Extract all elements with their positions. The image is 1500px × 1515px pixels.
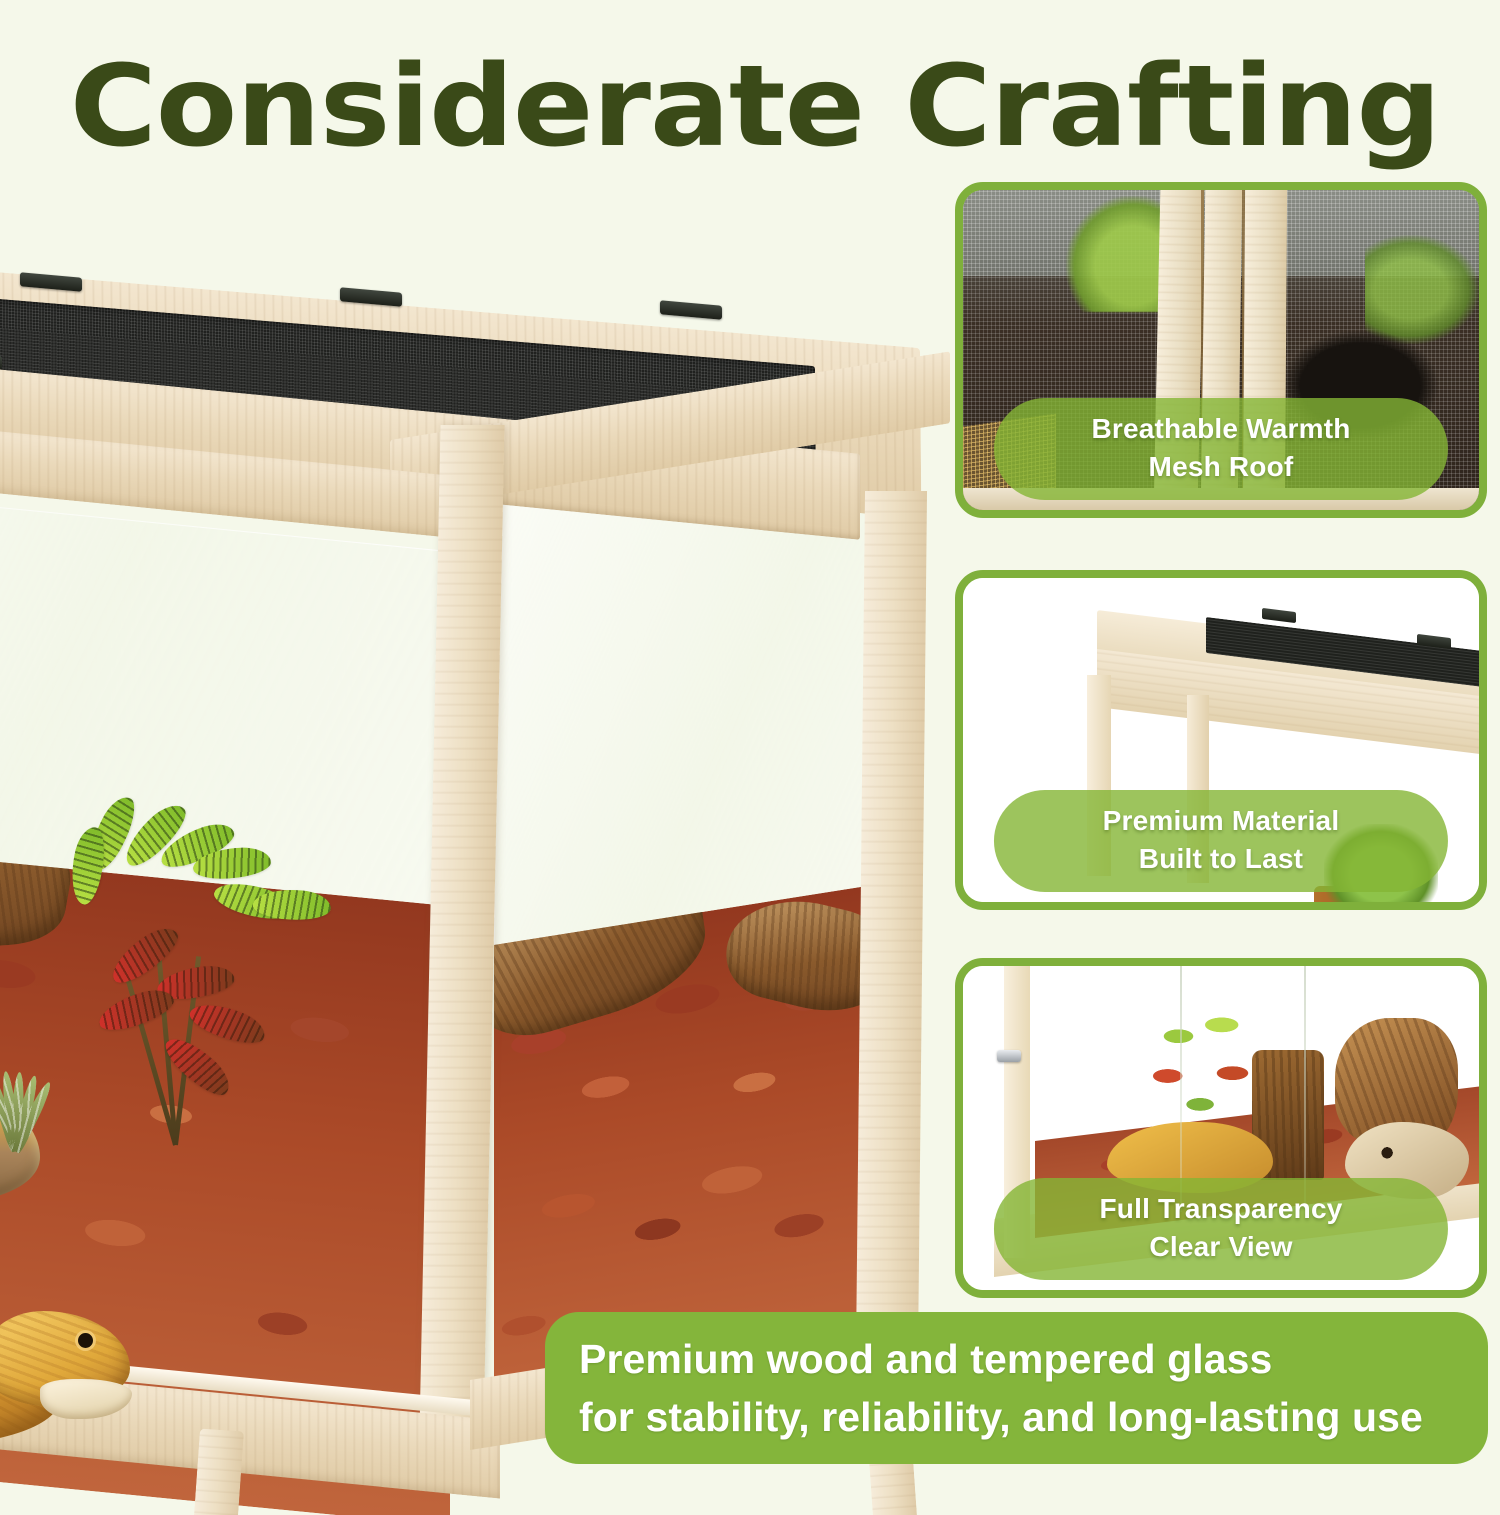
panel-label-line1: Premium Material <box>1103 805 1340 836</box>
panel-label-line2: Built to Last <box>1012 840 1430 878</box>
bearded-dragon <box>0 1275 170 1495</box>
feature-panel-premium-material[interactable]: Premium Material Built to Last <box>955 570 1487 910</box>
page-title: Considerate Crafting <box>0 52 1500 162</box>
caption-line1: Premium wood and tempered glass <box>579 1336 1272 1382</box>
feature-panel-breathable-warmth[interactable]: Breathable Warmth Mesh Roof <box>955 182 1487 518</box>
poster-canvas: Considerate Crafting <box>0 0 1500 1500</box>
panel-label-breathable-warmth: Breathable Warmth Mesh Roof <box>994 398 1448 500</box>
lizard-eye <box>78 1333 93 1348</box>
panel-label-full-transparency: Full Transparency Clear View <box>994 1178 1448 1280</box>
panel-label-line1: Full Transparency <box>1099 1193 1342 1224</box>
panel-label-premium-material: Premium Material Built to Last <box>994 790 1448 892</box>
panel-label-line2: Mesh Roof <box>1012 448 1430 486</box>
corner-post-right <box>855 491 927 1451</box>
panel-label-line1: Breathable Warmth <box>1091 413 1350 444</box>
lid-hinge <box>660 300 722 319</box>
door-latch-knob <box>997 1050 1021 1062</box>
artificial-croton-plant <box>65 845 335 1145</box>
feature-panel-full-transparency[interactable]: Full Transparency Clear View <box>955 958 1487 1298</box>
lizard-beard <box>40 1379 132 1419</box>
panel-label-line2: Clear View <box>1012 1228 1430 1266</box>
bottom-caption-banner: Premium wood and tempered glass for stab… <box>545 1312 1488 1464</box>
succulent-plant <box>0 1025 70 1157</box>
caption-line2: for stability, reliability, and long-las… <box>579 1388 1458 1446</box>
